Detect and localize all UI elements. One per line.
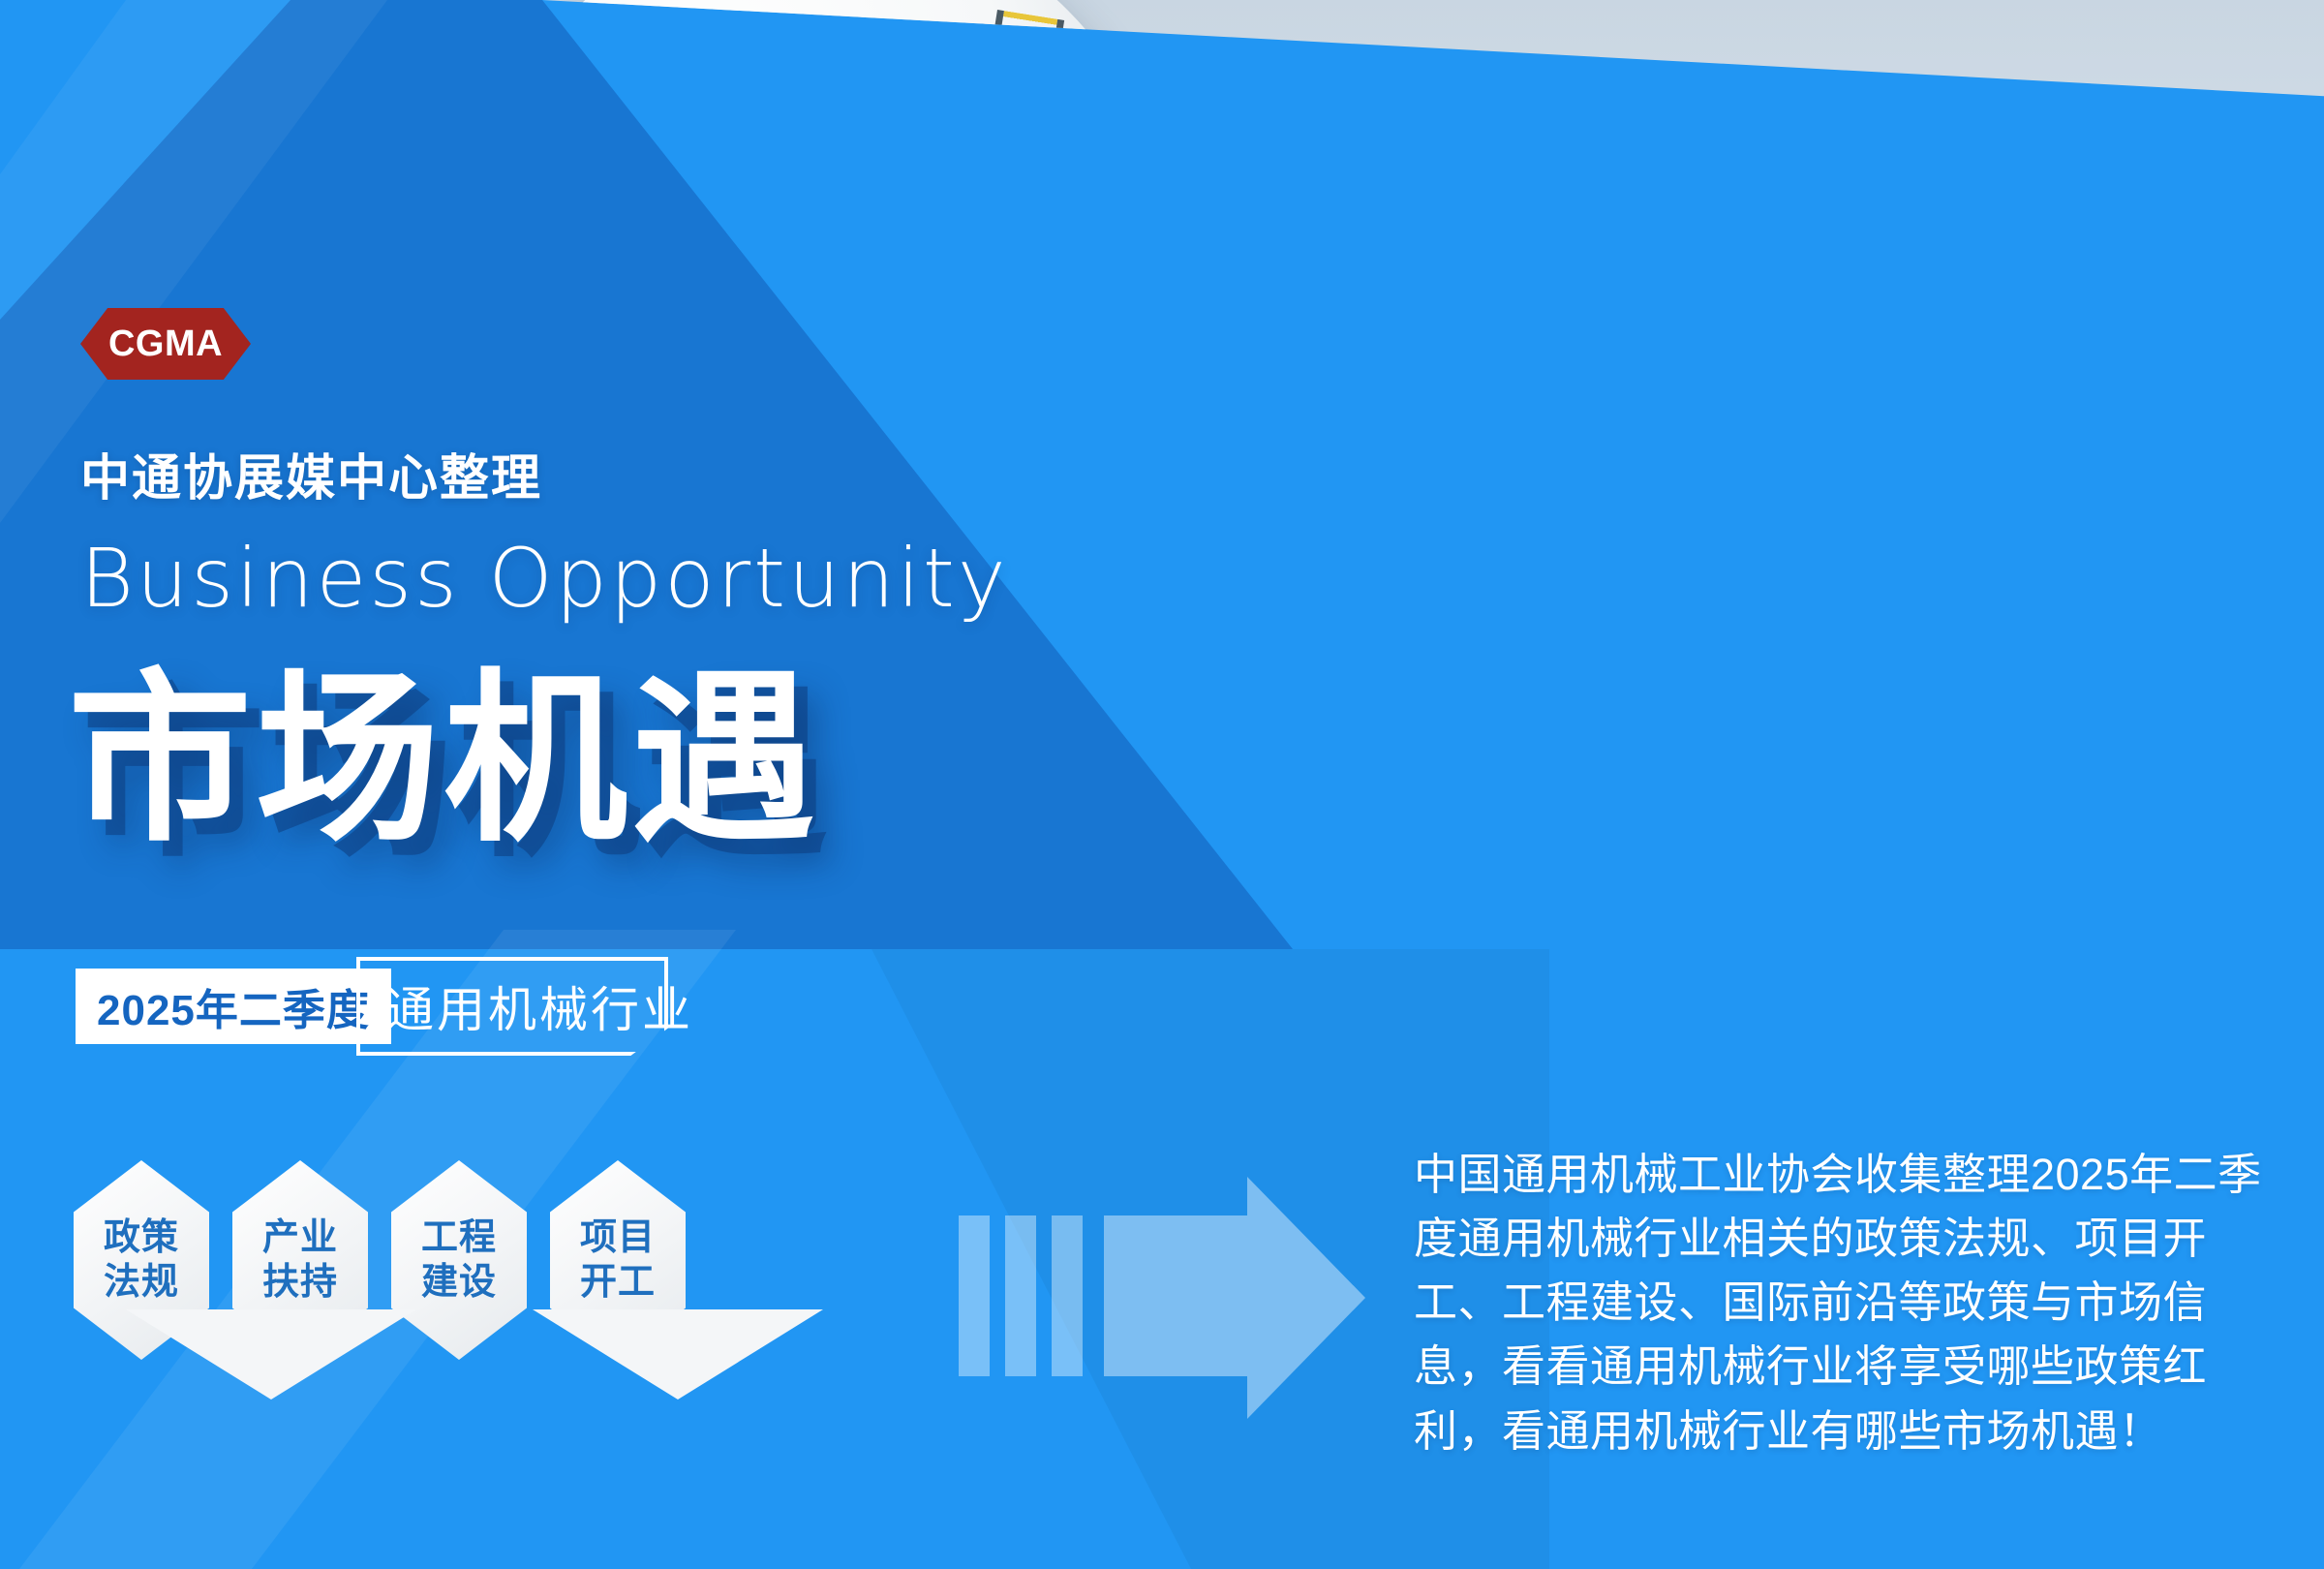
light-pole-2b: [1452, 124, 1461, 209]
sinopec-ring-3: [1615, 291, 1658, 333]
organization-label: 中通协展媒中心整理: [80, 438, 542, 509]
storage-sphere-4: [1820, 242, 2140, 562]
h2-marking-3: H2: [1622, 387, 1702, 459]
page-title: 市场机遇: [68, 668, 819, 852]
arrow-bar-3: [1052, 1215, 1083, 1376]
cgma-logo: CGMA: [80, 308, 251, 380]
sphere-legs-4: [1859, 542, 2117, 746]
quarter-badge: 2025年二季度: [76, 969, 391, 1044]
safety-banner: 安全生产人人有责: [1559, 484, 1619, 688]
vent-pipe-1b: [1094, 145, 1106, 261]
category-hexagon-engineering[interactable]: 工程 建设: [391, 1160, 527, 1360]
cgma-logo-text: CGMA: [108, 323, 223, 365]
tank-brand-3: 中国石化SINOPEC: [1607, 341, 1681, 371]
storage-sphere-3: [1501, 174, 1917, 591]
vent-pipe-1: [893, 97, 904, 223]
quarter-label: 2025年二季度: [76, 969, 391, 1044]
category-line-1: 项目: [580, 1215, 656, 1260]
light-pole-2: [1385, 116, 1393, 208]
category-line-1: 工程: [421, 1215, 497, 1260]
category-hexagon-project-start[interactable]: 项目 开工: [550, 1160, 686, 1360]
platform-deck-1: [1094, 542, 1385, 556]
category-hexagon-industry-support[interactable]: 产业 扶持: [232, 1160, 368, 1360]
h2-marking-2: H2: [1167, 320, 1270, 411]
platform-deck-2: [1365, 203, 1569, 219]
sinopec-ring-2: [1162, 199, 1218, 255]
spiral-stair-2: [1301, 219, 1448, 542]
arrow-bar-2: [1005, 1215, 1036, 1376]
stair-rail-1: [1068, 40, 1134, 542]
arrow-right-icon: [1104, 1177, 1365, 1419]
category-line-2: 扶持: [262, 1260, 338, 1305]
category-hexagon-row: 政策 法规 产业 扶持 工程 建设 项目 开工: [74, 1160, 686, 1360]
storage-sphere-2: [1036, 77, 1578, 620]
category-line-2: 开工: [580, 1260, 656, 1305]
promotional-banner: H2 中国石化SINOPEC H2 中国石化SINOPEC: [0, 0, 2324, 1569]
spiral-stair-1: [912, 10, 1064, 556]
category-line-2: 建设: [421, 1260, 497, 1305]
arrow-bar-1: [959, 1215, 990, 1376]
category-line-1: 政策: [104, 1215, 179, 1260]
stair-rail-2: [1520, 244, 1590, 521]
category-hexagon-policy[interactable]: 政策 法规: [74, 1160, 209, 1360]
tank-brand-2: 中国石化SINOPEC: [1152, 263, 1241, 300]
arrow-graphic: [959, 1177, 1365, 1419]
tank-brand-1: 中国石化SINOPEC: [811, 184, 939, 238]
category-line-1: 产业: [262, 1215, 338, 1260]
category-line-2: 法规: [104, 1260, 179, 1305]
platform-rail-2: [1365, 165, 1569, 173]
h2-marking-4: H2: [1927, 349, 1991, 405]
english-title: Business Opportunity: [80, 531, 1009, 626]
industry-label: 通用机械行业: [370, 967, 709, 1046]
sphere-legs-3: [1540, 533, 1832, 765]
description-text: 中国通用机械工业协会收集整理2025年二季度通用机械行业相关的政策法规、项目开工…: [1414, 1143, 2266, 1463]
